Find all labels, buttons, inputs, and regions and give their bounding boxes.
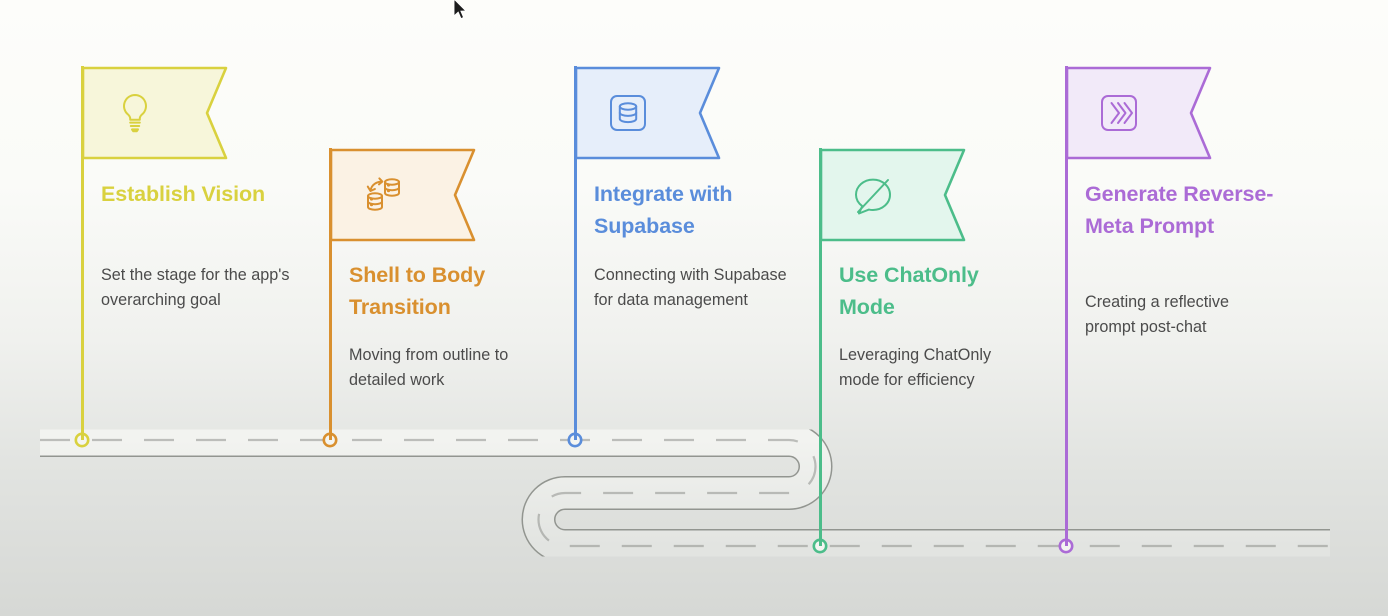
- milestone-flag[interactable]: [576, 66, 722, 160]
- milestone-title: Use ChatOnly Mode: [839, 259, 1029, 324]
- milestone-description: Leveraging ChatOnly mode for efficiency: [839, 343, 1035, 392]
- road-surface: [40, 440, 1330, 546]
- milestone-title: Integrate with Supabase: [594, 178, 784, 243]
- milestone-description: Set the stage for the app's overarching …: [101, 263, 297, 312]
- milestone-flag[interactable]: [1067, 66, 1213, 160]
- milestone-flag[interactable]: [83, 66, 229, 160]
- milestone-description: Connecting with Supabase for data manage…: [594, 263, 790, 312]
- milestone-title: Generate Reverse-Meta Prompt: [1085, 178, 1275, 243]
- milestone-flag[interactable]: [821, 148, 967, 242]
- milestone-description: Creating a reflective prompt post-chat: [1085, 290, 1281, 339]
- milestone-description: Moving from outline to detailed work: [349, 343, 545, 392]
- milestone-flag[interactable]: [331, 148, 477, 242]
- roadmap-canvas: Establish VisionSet the stage for the ap…: [0, 0, 1388, 616]
- milestone-title: Shell to Body Transition: [349, 259, 539, 324]
- milestone-title: Establish Vision: [101, 178, 291, 210]
